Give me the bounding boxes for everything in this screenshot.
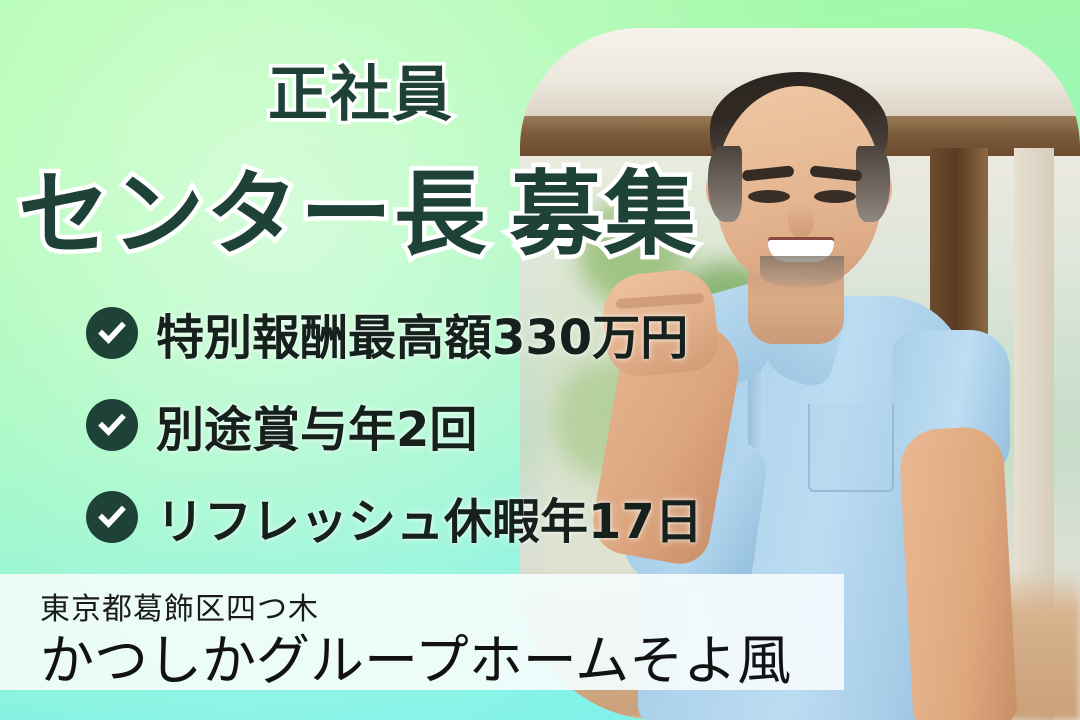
employment-type-label: 正社員 [268, 46, 454, 133]
person-shirt-pocket [808, 404, 894, 492]
person-hair-side-right [856, 146, 890, 222]
person-eye-left [748, 190, 790, 203]
check-circle-icon [86, 307, 138, 359]
person-eye-right [814, 190, 856, 203]
headline-recruiting: 募集 [510, 161, 698, 268]
benefit-label: 別途賞与年2回 [156, 390, 477, 460]
benefit-label: 特別報酬最高額330万円 [156, 298, 688, 368]
benefits-list: 特別報酬最高額330万円 別途賞与年2回 リフレッシュ休暇年17日 [86, 298, 703, 552]
facility-name: かつしかグループホームそよ風 [40, 616, 791, 695]
headline-position: センター長 [18, 161, 488, 268]
person-nose [788, 204, 814, 238]
check-circle-icon [86, 491, 138, 543]
job-ad-poster: 正社員 センター長募集 特別報酬最高額330万円 別途賞与年2回 [0, 0, 1080, 720]
person-right-arm [898, 425, 1018, 720]
check-circle-icon [86, 399, 138, 451]
benefit-label: リフレッシュ休暇年17日 [156, 482, 703, 552]
facility-banner: 東京都葛飾区四つ木 かつしかグループホームそよ風 [0, 574, 844, 690]
person-beard [760, 256, 844, 286]
benefit-item: リフレッシュ休暇年17日 [86, 482, 703, 552]
person-hair-side-left [708, 146, 742, 222]
benefit-item: 特別報酬最高額330万円 [86, 298, 703, 368]
benefit-item: 別途賞与年2回 [86, 390, 703, 460]
headline-main: センター長募集 [18, 140, 698, 273]
